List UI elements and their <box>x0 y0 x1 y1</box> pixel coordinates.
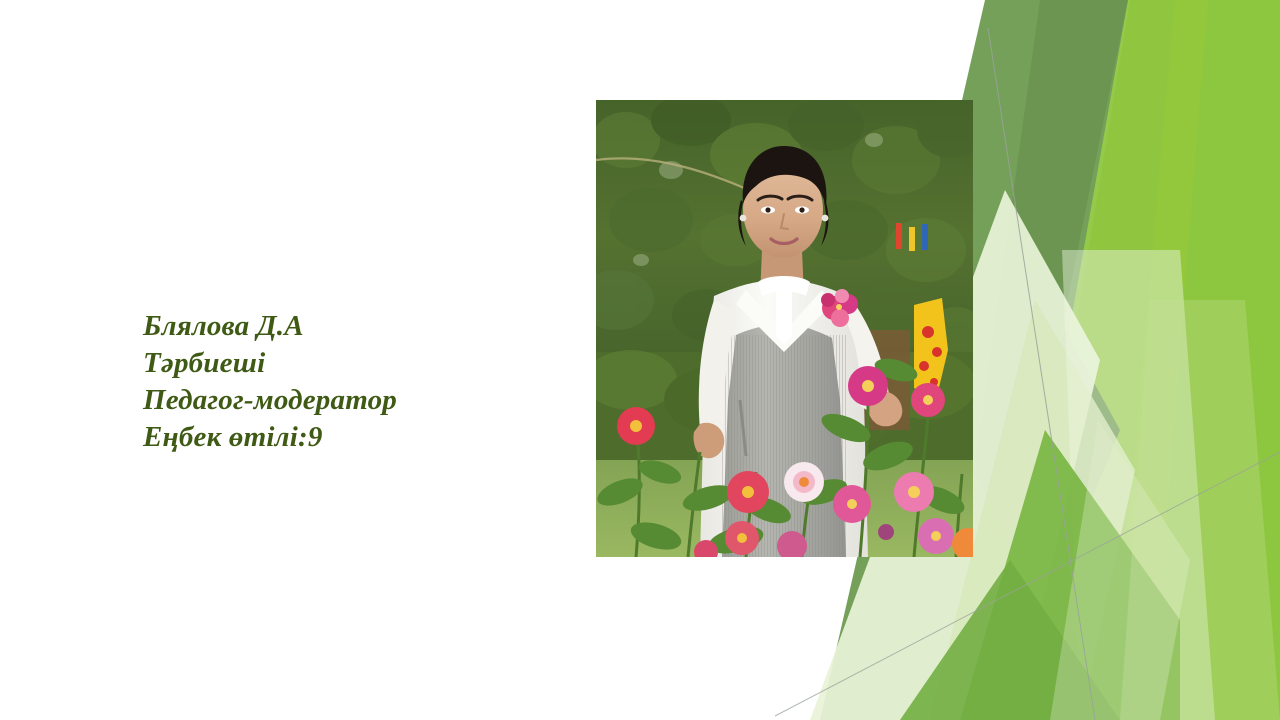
teacher-photo-image <box>596 100 973 557</box>
facet-hairline-steep <box>988 28 1095 720</box>
facet-shape-light-panel <box>1120 300 1280 720</box>
facet-shape-lime-right-2 <box>1150 0 1280 720</box>
teacher-photo <box>596 100 973 557</box>
facet-shape-green-sweep-2 <box>900 560 1120 720</box>
facet-shape-forest <box>975 0 1128 560</box>
facet-shape-forest-deep <box>995 330 1120 600</box>
presentation-slide: Блялова Д.А Тәрбиеші Педагог-модератор Е… <box>0 0 1280 720</box>
teacher-category: Педагог-модератор <box>143 382 563 419</box>
teacher-role: Тәрбиеші <box>143 345 563 382</box>
teacher-name: Блялова Д.А <box>143 308 563 345</box>
teacher-tenure: Еңбек өтілі:9 <box>143 419 563 456</box>
facet-shape-pale-sheet-3 <box>1062 250 1215 720</box>
facet-shape-lime-right <box>1010 0 1280 720</box>
facet-shape-green-sweep <box>960 430 1180 720</box>
facet-shape-light-panel-2 <box>1050 420 1190 720</box>
teacher-info-text: Блялова Д.А Тәрбиеші Педагог-модератор Е… <box>143 308 563 456</box>
